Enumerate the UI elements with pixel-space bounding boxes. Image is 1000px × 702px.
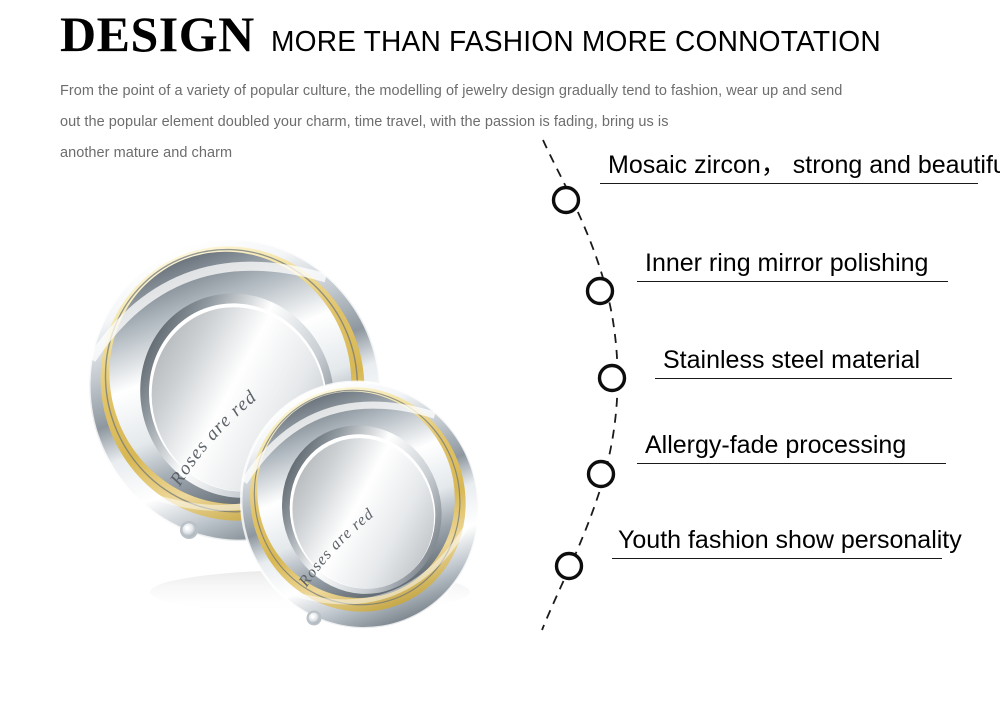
feature-item-2[interactable]: Inner ring mirror polishing [645, 248, 948, 292]
feature-label: Mosaic zircon， strong and beautiful [608, 150, 1000, 180]
feature-underline [637, 281, 948, 282]
feature-list: Mosaic zircon， strong and beautiful Inne… [520, 130, 1000, 650]
feature-underline [612, 558, 942, 559]
feature-label: Stainless steel material [663, 345, 952, 375]
feature-item-5[interactable]: Youth fashion show personality [618, 525, 962, 569]
feature-label: Youth fashion show personality [618, 525, 962, 555]
page-title: DESIGN [60, 8, 255, 60]
feature-label: Allergy-fade processing [645, 430, 946, 460]
feature-item-1[interactable]: Mosaic zircon， strong and beautiful [608, 150, 1000, 194]
feature-underline [637, 463, 946, 464]
feature-underline [655, 378, 952, 379]
couple-rings-illustration: Roses are red [60, 160, 530, 630]
feature-item-4[interactable]: Allergy-fade processing [645, 430, 946, 474]
mens-ring-zircon [180, 521, 198, 539]
title-row: DESIGN MORE THAN FASHION MORE CONNOTATIO… [60, 8, 940, 68]
connector-curve-layer [520, 130, 1000, 650]
bullet-marker-5 [557, 554, 582, 579]
bullet-marker-4 [589, 462, 614, 487]
feature-item-3[interactable]: Stainless steel material [663, 345, 952, 389]
feature-label: Inner ring mirror polishing [645, 248, 948, 278]
product-detail-page: DESIGN MORE THAN FASHION MORE CONNOTATIO… [0, 0, 1000, 702]
page-subtitle: MORE THAN FASHION MORE CONNOTATION [271, 16, 881, 68]
feature-underline [600, 183, 978, 184]
product-photo: Roses are red [60, 160, 530, 630]
bullet-marker-3 [600, 366, 625, 391]
bullet-marker-1 [554, 188, 579, 213]
womens-ring-zircon [307, 611, 322, 626]
bullet-marker-2 [588, 279, 613, 304]
